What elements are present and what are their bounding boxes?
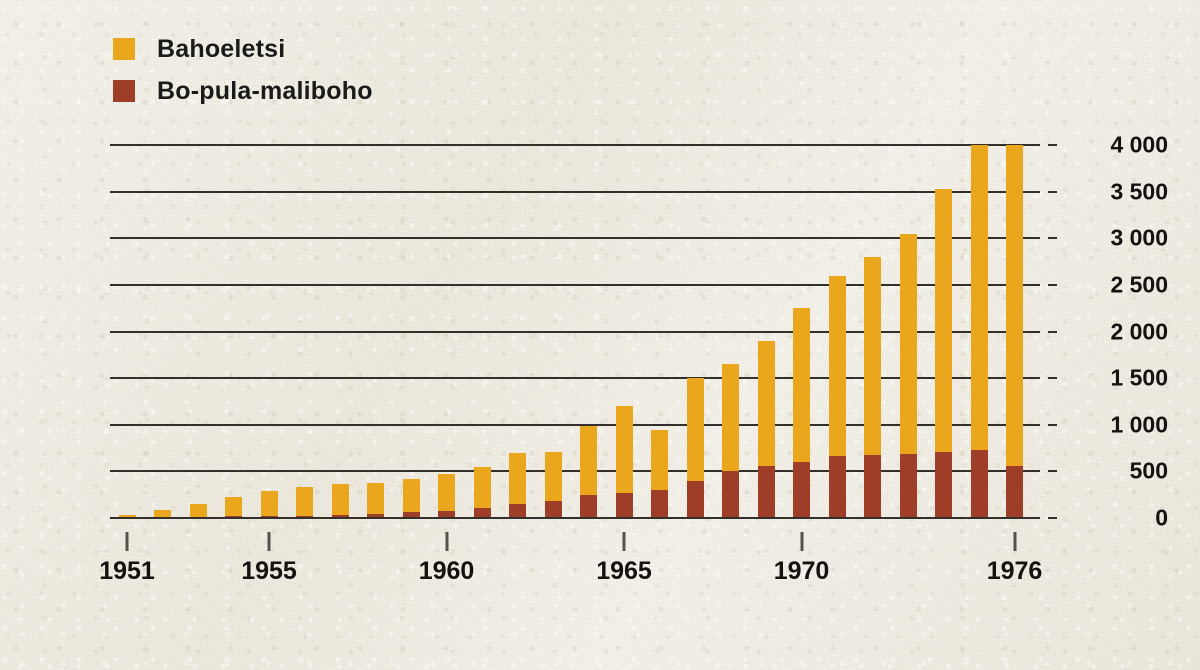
legend-swatch-bo-pula-maliboho [113,80,135,102]
bar-segment-bahoeletsi [580,426,597,495]
bar-segment-bahoeletsi [793,308,810,462]
x-axis-tick [126,532,129,551]
bar-1958 [367,483,384,518]
bar-1961 [474,467,491,518]
y-axis-tick [1048,470,1057,472]
legend-item-bo-pula-maliboho: Bo-pula-maliboho [113,70,373,112]
y-axis-label: 1 500 [1060,365,1168,392]
bar-1954 [225,497,242,518]
y-axis-tick [1048,517,1057,519]
bar-segment-bahoeletsi [474,467,491,508]
bar-segment-bo-pula-maliboho [935,452,952,518]
bar-segment-bahoeletsi [687,378,704,481]
bar-1974 [935,189,952,518]
y-axis-label: 500 [1060,458,1168,485]
y-axis-tick [1048,144,1057,146]
bar-segment-bahoeletsi [261,491,278,516]
bar-segment-bo-pula-maliboho [687,481,704,518]
bar-segment-bahoeletsi [829,276,846,457]
y-axis-tick [1048,191,1057,193]
bar-segment-bahoeletsi [403,479,420,513]
bar-1962 [509,453,526,518]
legend-item-bahoeletsi: Bahoeletsi [113,28,373,70]
bar-segment-bahoeletsi [935,189,952,452]
bar-1969 [758,341,775,518]
y-axis-tick [1048,424,1057,426]
bar-segment-bahoeletsi [616,406,633,493]
x-axis-label: 1951 [99,557,155,586]
bar-1971 [829,276,846,518]
bar-segment-bahoeletsi [190,504,207,517]
bar-1970 [793,308,810,518]
bar-segment-bahoeletsi [971,145,988,450]
x-axis-tick [800,532,803,551]
bar-1976 [1006,145,1023,518]
bar-segment-bahoeletsi [722,364,739,471]
y-axis-tick [1048,284,1057,286]
bar-segment-bahoeletsi [1006,145,1023,466]
bar-1973 [900,234,917,518]
bar-segment-bo-pula-maliboho [722,471,739,518]
bar-segment-bahoeletsi [154,510,171,517]
bar-1953 [190,504,207,518]
x-axis-tick [623,532,626,551]
x-axis-label: 1955 [241,557,297,586]
plot-area [110,145,1040,518]
bar-1968 [722,364,739,518]
y-axis-tick [1048,331,1057,333]
legend-label-bo-pula-maliboho: Bo-pula-maliboho [157,77,373,106]
bar-1966 [651,430,668,518]
x-axis-label: 1970 [774,557,830,586]
bar-segment-bahoeletsi [296,487,313,516]
bar-segment-bo-pula-maliboho [864,455,881,518]
x-axis-label: 1960 [419,557,475,586]
bar-1960 [438,474,455,518]
bar-segment-bo-pula-maliboho [900,454,917,518]
x-axis: 195119551960196519701976 [110,518,1040,598]
y-axis-labels: 05001 0001 5002 0002 5003 0003 5004 000 [1060,145,1190,518]
chart-slide: Bahoeletsi Bo-pula-maliboho 05001 0001 5… [0,0,1200,670]
x-axis-label: 1965 [596,557,652,586]
bar-segment-bo-pula-maliboho [580,495,597,518]
bar-segment-bo-pula-maliboho [793,462,810,518]
y-axis-label: 2 500 [1060,271,1168,298]
bar-segment-bo-pula-maliboho [1006,466,1023,518]
bar-segment-bo-pula-maliboho [616,493,633,518]
bar-segment-bahoeletsi [758,341,775,466]
bar-segment-bahoeletsi [332,484,349,516]
y-axis-tick [1048,377,1057,379]
y-axis-label: 2 000 [1060,318,1168,345]
bar-segment-bo-pula-maliboho [758,466,775,518]
bar-segment-bo-pula-maliboho [829,456,846,518]
bar-segment-bahoeletsi [438,474,455,510]
chart-legend: Bahoeletsi Bo-pula-maliboho [113,28,373,112]
y-axis-label: 3 500 [1060,178,1168,205]
y-axis-label: 4 000 [1060,132,1168,159]
bar-1959 [403,479,420,518]
bar-1964 [580,426,597,518]
bar-segment-bo-pula-maliboho [545,501,562,518]
bar-1975 [971,145,988,518]
bar-1955 [261,491,278,518]
y-axis-label: 1 000 [1060,411,1168,438]
bar-1967 [687,378,704,518]
bar-segment-bo-pula-maliboho [651,490,668,518]
bar-group [110,145,1040,518]
bar-segment-bahoeletsi [651,430,668,490]
bar-segment-bahoeletsi [545,452,562,501]
legend-swatch-bahoeletsi [113,38,135,60]
x-axis-label: 1976 [987,557,1043,586]
bar-segment-bo-pula-maliboho [509,504,526,518]
y-axis-tick [1048,237,1057,239]
bar-1972 [864,257,881,518]
bar-segment-bahoeletsi [900,234,917,454]
bar-segment-bo-pula-maliboho [971,450,988,518]
bar-segment-bahoeletsi [864,257,881,455]
legend-label-bahoeletsi: Bahoeletsi [157,35,285,64]
x-axis-tick [268,532,271,551]
bar-segment-bahoeletsi [225,497,242,517]
bar-1963 [545,452,562,518]
y-axis-label: 3 000 [1060,225,1168,252]
bar-1965 [616,406,633,518]
bar-segment-bahoeletsi [367,483,384,515]
y-axis-label: 0 [1060,505,1168,532]
bar-1956 [296,487,313,518]
x-axis-tick [445,532,448,551]
bar-1957 [332,484,349,519]
x-axis-tick [1013,532,1016,551]
bar-segment-bahoeletsi [509,453,526,504]
